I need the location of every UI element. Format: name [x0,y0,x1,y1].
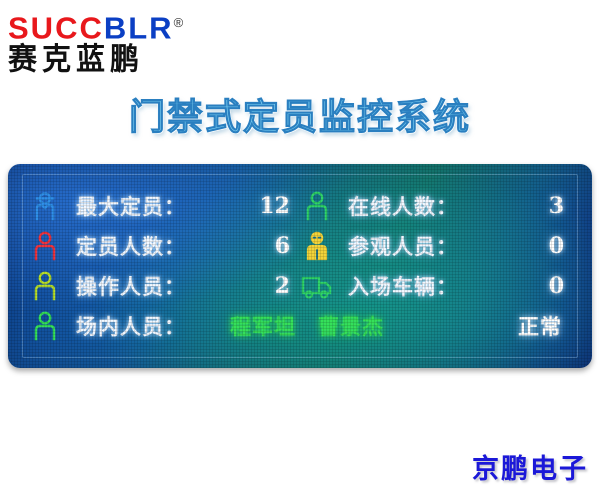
led-cell-visitor-count: 参观人员： 0 [300,226,572,266]
led-value: 12 [259,193,290,219]
led-value: 0 [549,273,564,299]
led-rows: 最大定员： 12 在线人数： 3 [8,186,592,346]
led-label: 在线人数： [348,191,458,221]
led-label: 场内人员： [76,311,186,341]
led-label: 定员人数： [76,231,186,261]
led-cell-vehicle-count: 入场车辆： 0 [300,266,572,306]
truck-icon [300,269,334,303]
led-cell-max-capacity: 最大定员： 12 [28,186,300,226]
person-icon [28,309,62,343]
brand-wordmark: SUCCBLR® [8,6,238,40]
list-item: 曹景杰 [318,311,384,341]
led-value: 0 [549,233,564,259]
led-value: 2 [275,273,290,299]
led-label: 参观人员： [348,231,458,261]
led-label: 入场车辆： [348,271,458,301]
status-badge: 正常 [518,311,562,341]
led-value: 3 [549,193,564,219]
page-title: 门禁式定员监控系统 [0,88,600,140]
registered-trademark-icon: ® [174,15,184,30]
led-label: 操作人员： [76,271,186,301]
led-row: 操作人员： 2 入场车辆： 0 [8,266,592,306]
list-item: 程军坦 [230,311,296,341]
led-row: 最大定员： 12 在线人数： 3 [8,186,592,226]
led-cell-online-count: 在线人数： 3 [300,186,572,226]
led-row: 场内人员： 程军坦 曹景杰 正常 [8,306,592,346]
brand-logo: SUCCBLR® 赛克蓝鹏 [8,6,238,76]
brand-chinese-name: 赛克蓝鹏 [8,41,238,77]
led-value: 6 [275,233,290,259]
person-helmet-icon [28,189,62,223]
onsite-name-list: 程军坦 曹景杰 [230,311,384,341]
led-row: 定员人数： 6 [8,226,592,266]
person-icon [300,189,334,223]
led-label: 最大定员： [76,191,186,221]
led-cell-quota-count: 定员人数： 6 [28,226,300,266]
footer-brand: 京鹏电子 [472,447,588,486]
person-icon [28,269,62,303]
led-display-panel: 最大定员： 12 在线人数： 3 [8,164,592,368]
person-visitor-icon [300,229,334,263]
led-cell-operator-count: 操作人员： 2 [28,266,300,306]
person-icon [28,229,62,263]
led-cell-onsite-personnel: 场内人员： 程军坦 曹景杰 正常 [28,306,572,346]
